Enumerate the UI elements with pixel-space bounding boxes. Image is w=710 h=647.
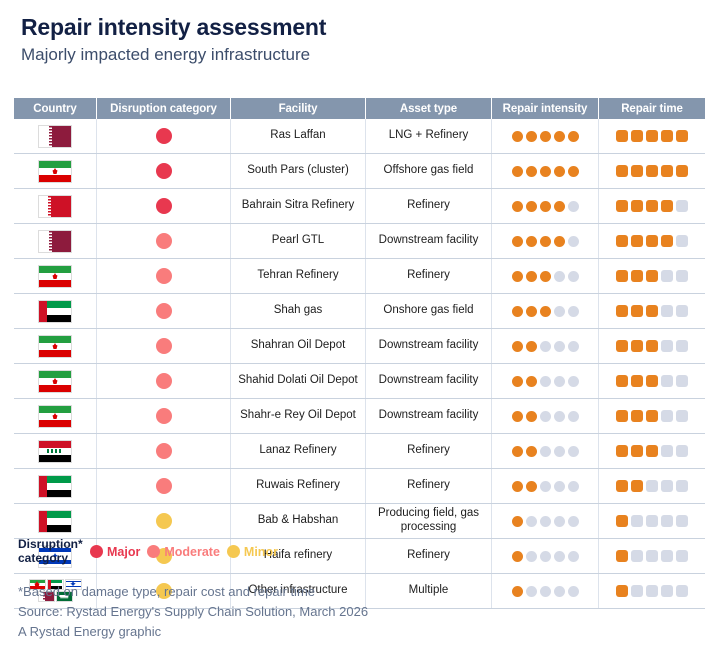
cell-repair-intensity [492, 224, 599, 259]
intensity-dot [568, 411, 579, 422]
footer-notes: *Based on damage type, repair cost and r… [18, 582, 368, 642]
disruption-dot-moderate [156, 303, 172, 319]
table-row: South Pars (cluster)Offshore gas field [14, 154, 705, 189]
intensity-dot [540, 271, 551, 282]
legend-item-moderate: Moderate [147, 545, 220, 559]
intensity-dot [540, 586, 551, 597]
cell-repair-intensity [492, 574, 599, 609]
flag-icon-iran [38, 370, 72, 393]
intensity-dot [554, 551, 565, 562]
cell-facility: Pearl GTL [231, 224, 366, 259]
intensity-dot [526, 131, 537, 142]
legend-items: MajorModerateMinor [90, 545, 285, 559]
flag-icon-iran [38, 335, 72, 358]
repair-intensity-marks [496, 411, 594, 422]
intensity-dot [554, 516, 565, 527]
flag-icon-bahrain [38, 195, 72, 218]
intensity-dot [568, 551, 579, 562]
cell-repair-time [599, 154, 706, 189]
intensity-dot [540, 481, 551, 492]
table-row: Shahran Oil DepotDownstream facility [14, 329, 705, 364]
repair-intensity-marks [496, 481, 594, 492]
intensity-dot [540, 236, 551, 247]
legend-label: Minor [244, 545, 278, 559]
intensity-dot [512, 516, 523, 527]
repair-time-marks [603, 585, 701, 597]
time-square [631, 480, 643, 492]
intensity-dot [540, 411, 551, 422]
table-row: Ras LaffanLNG + Refinery [14, 119, 705, 154]
repair-intensity-marks [496, 376, 594, 387]
time-square [646, 235, 658, 247]
cell-asset-type: Producing field, gas processing [366, 504, 492, 539]
cell-country [14, 329, 97, 364]
time-square [661, 165, 673, 177]
intensity-dot [568, 131, 579, 142]
intensity-dot [512, 446, 523, 457]
flag-icon-iran [38, 405, 72, 428]
repair-time-marks [603, 235, 701, 247]
time-square [661, 445, 673, 457]
time-square [631, 305, 643, 317]
time-square [631, 235, 643, 247]
table-row: Lanaz RefineryRefinery [14, 434, 705, 469]
time-square [661, 340, 673, 352]
page-title: Repair intensity assessment [21, 14, 710, 40]
repair-intensity-marks [496, 586, 594, 597]
column-header-repair-intensity: Repair intensity [492, 98, 599, 119]
cell-facility: Bahrain Sitra Refinery [231, 189, 366, 224]
cell-country [14, 469, 97, 504]
time-square [631, 515, 643, 527]
flag-icon-uae [38, 475, 72, 498]
intensity-dot [526, 271, 537, 282]
repair-intensity-marks [496, 341, 594, 352]
time-square [616, 585, 628, 597]
intensity-dot [554, 341, 565, 352]
repair-intensity-marks [496, 306, 594, 317]
intensity-dot [568, 481, 579, 492]
time-square [661, 480, 673, 492]
time-square [676, 270, 688, 282]
flag-icon-uae [38, 300, 72, 323]
disruption-dot-minor [156, 513, 172, 529]
cell-country [14, 364, 97, 399]
repair-intensity-marks [496, 551, 594, 562]
repair-intensity-marks [496, 166, 594, 177]
disruption-dot-moderate [156, 233, 172, 249]
repair-intensity-marks [496, 131, 594, 142]
intensity-dot [526, 236, 537, 247]
table-row: Pearl GTLDownstream facility [14, 224, 705, 259]
intensity-dot [512, 236, 523, 247]
repair-time-marks [603, 165, 701, 177]
time-square [676, 165, 688, 177]
time-square [631, 200, 643, 212]
intensity-dot [568, 306, 579, 317]
page-subtitle: Majorly impacted energy infrastructure [21, 45, 710, 65]
repair-intensity-marks [496, 236, 594, 247]
intensity-dot [568, 446, 579, 457]
repair-time-marks [603, 375, 701, 387]
cell-repair-time [599, 364, 706, 399]
time-square [676, 375, 688, 387]
time-square [631, 375, 643, 387]
repair-time-marks [603, 200, 701, 212]
time-square [646, 200, 658, 212]
intensity-dot [568, 236, 579, 247]
time-square [631, 165, 643, 177]
cell-disruption-category [97, 154, 231, 189]
time-square [661, 130, 673, 142]
cell-asset-type: Downstream facility [366, 329, 492, 364]
time-square [661, 305, 673, 317]
time-square [676, 235, 688, 247]
intensity-dot [554, 236, 565, 247]
cell-facility: Shah gas [231, 294, 366, 329]
time-square [646, 375, 658, 387]
cell-repair-intensity [492, 259, 599, 294]
cell-repair-intensity [492, 364, 599, 399]
time-square [661, 410, 673, 422]
time-square [676, 410, 688, 422]
cell-disruption-category [97, 434, 231, 469]
table-row: Shahr-e Rey Oil DepotDownstream facility [14, 399, 705, 434]
cell-disruption-category [97, 364, 231, 399]
time-square [616, 165, 628, 177]
time-square [661, 270, 673, 282]
time-square [616, 340, 628, 352]
intensity-dot [540, 376, 551, 387]
intensity-dot [512, 586, 523, 597]
cell-facility: Shahran Oil Depot [231, 329, 366, 364]
chart-header: Repair intensity assessment Majorly impa… [0, 0, 710, 66]
cell-repair-time [599, 539, 706, 574]
legend-title-line1: Disruption* [18, 537, 83, 551]
intensity-dot [526, 551, 537, 562]
time-square [676, 515, 688, 527]
cell-asset-type: Refinery [366, 539, 492, 574]
cell-disruption-category [97, 469, 231, 504]
intensity-dot [554, 306, 565, 317]
intensity-dot [526, 201, 537, 212]
intensity-dot [540, 201, 551, 212]
intensity-dot [512, 341, 523, 352]
legend-item-minor: Minor [227, 545, 278, 559]
intensity-dot [568, 166, 579, 177]
intensity-dot [568, 376, 579, 387]
time-square [616, 200, 628, 212]
time-square [646, 550, 658, 562]
cell-country [14, 189, 97, 224]
legend-swatch-major [90, 545, 103, 558]
cell-facility: Shahr-e Rey Oil Depot [231, 399, 366, 434]
legend-label: Moderate [164, 545, 220, 559]
table-header: Country Disruption category Facility Ass… [14, 98, 705, 119]
cell-repair-time [599, 399, 706, 434]
cell-asset-type: Onshore gas field [366, 294, 492, 329]
disruption-dot-major [156, 128, 172, 144]
time-square [646, 305, 658, 317]
table-row: Ruwais RefineryRefinery [14, 469, 705, 504]
cell-disruption-category [97, 329, 231, 364]
time-square [616, 515, 628, 527]
time-square [661, 585, 673, 597]
intensity-dot [540, 131, 551, 142]
intensity-dot [526, 411, 537, 422]
cell-repair-time [599, 224, 706, 259]
time-square [676, 130, 688, 142]
cell-country [14, 119, 97, 154]
cell-facility: Bab & Habshan [231, 504, 366, 539]
time-square [661, 515, 673, 527]
column-header-asset-type: Asset type [366, 98, 492, 119]
cell-asset-type: Offshore gas field [366, 154, 492, 189]
table-row: Shah gasOnshore gas field [14, 294, 705, 329]
cell-disruption-category [97, 294, 231, 329]
column-header-facility: Facility [231, 98, 366, 119]
repair-time-marks [603, 410, 701, 422]
time-square [631, 130, 643, 142]
table-body: Ras LaffanLNG + RefinerySouth Pars (clus… [14, 119, 705, 609]
cell-repair-intensity [492, 504, 599, 539]
cell-repair-time [599, 294, 706, 329]
cell-country [14, 154, 97, 189]
footnote-credit: A Rystad Energy graphic [18, 622, 368, 642]
repair-time-marks [603, 515, 701, 527]
cell-repair-intensity [492, 469, 599, 504]
cell-repair-intensity [492, 329, 599, 364]
cell-asset-type: LNG + Refinery [366, 119, 492, 154]
cell-disruption-category [97, 224, 231, 259]
intensity-dot [540, 446, 551, 457]
time-square [646, 515, 658, 527]
repair-time-marks [603, 305, 701, 317]
intensity-dot [526, 586, 537, 597]
time-square [646, 340, 658, 352]
cell-asset-type: Downstream facility [366, 224, 492, 259]
table-row: Bahrain Sitra RefineryRefinery [14, 189, 705, 224]
repair-time-marks [603, 130, 701, 142]
footnote-source: Source: Rystad Energy's Supply Chain Sol… [18, 602, 368, 622]
intensity-dot [540, 166, 551, 177]
cell-facility: South Pars (cluster) [231, 154, 366, 189]
cell-repair-intensity [492, 294, 599, 329]
legend-swatch-minor [227, 545, 240, 558]
repair-intensity-marks [496, 201, 594, 212]
intensity-dot [526, 516, 537, 527]
cell-repair-intensity [492, 154, 599, 189]
time-square [676, 305, 688, 317]
repair-time-marks [603, 480, 701, 492]
table-row: Bab & HabshanProducing field, gas proces… [14, 504, 705, 539]
legend-item-major: Major [90, 545, 140, 559]
repair-intensity-marks [496, 516, 594, 527]
time-square [646, 270, 658, 282]
intensity-dot [512, 201, 523, 212]
repair-time-marks [603, 270, 701, 282]
intensity-dot [526, 446, 537, 457]
flag-icon-iran [38, 265, 72, 288]
time-square [616, 375, 628, 387]
intensity-dot [540, 341, 551, 352]
intensity-dot [512, 411, 523, 422]
disruption-dot-moderate [156, 478, 172, 494]
time-square [616, 550, 628, 562]
disruption-dot-moderate [156, 338, 172, 354]
cell-repair-intensity [492, 539, 599, 574]
cell-repair-time [599, 189, 706, 224]
cell-facility: Tehran Refinery [231, 259, 366, 294]
time-square [616, 270, 628, 282]
cell-repair-time [599, 469, 706, 504]
intensity-dot [568, 341, 579, 352]
cell-asset-type: Downstream facility [366, 399, 492, 434]
cell-disruption-category [97, 189, 231, 224]
assessment-table-container: Country Disruption category Facility Ass… [14, 98, 700, 609]
table-row: Shahid Dolati Oil DepotDownstream facili… [14, 364, 705, 399]
intensity-dot [526, 376, 537, 387]
intensity-dot [568, 586, 579, 597]
intensity-dot [512, 271, 523, 282]
cell-country [14, 504, 97, 539]
time-square [661, 550, 673, 562]
disruption-dot-major [156, 198, 172, 214]
disruption-dot-major [156, 163, 172, 179]
time-square [616, 130, 628, 142]
cell-asset-type: Refinery [366, 189, 492, 224]
table-row: Tehran RefineryRefinery [14, 259, 705, 294]
cell-repair-intensity [492, 434, 599, 469]
intensity-dot [540, 516, 551, 527]
intensity-dot [526, 306, 537, 317]
time-square [646, 130, 658, 142]
cell-repair-time [599, 119, 706, 154]
repair-time-marks [603, 550, 701, 562]
flag-icon-iraq [38, 440, 72, 463]
flag-icon-qatar [38, 230, 72, 253]
column-header-repair-time: Repair time [599, 98, 706, 119]
cell-asset-type: Refinery [366, 469, 492, 504]
time-square [661, 235, 673, 247]
footnote-methodology: *Based on damage type, repair cost and r… [18, 582, 368, 602]
cell-country [14, 434, 97, 469]
intensity-dot [554, 376, 565, 387]
cell-asset-type: Refinery [366, 259, 492, 294]
time-square [676, 585, 688, 597]
cell-country [14, 259, 97, 294]
cell-repair-time [599, 434, 706, 469]
time-square [646, 445, 658, 457]
legend-title-line2: category [18, 551, 68, 565]
intensity-dot [526, 341, 537, 352]
time-square [616, 480, 628, 492]
intensity-dot [554, 481, 565, 492]
cell-disruption-category [97, 119, 231, 154]
flag-icon-iran [38, 160, 72, 183]
time-square [646, 480, 658, 492]
flag-icon-uae [38, 510, 72, 533]
time-square [646, 165, 658, 177]
cell-asset-type: Refinery [366, 434, 492, 469]
cell-country [14, 224, 97, 259]
cell-repair-time [599, 504, 706, 539]
cell-disruption-category [97, 259, 231, 294]
time-square [646, 585, 658, 597]
flag-icon-qatar [38, 125, 72, 148]
intensity-dot [554, 201, 565, 212]
intensity-dot [512, 306, 523, 317]
intensity-dot [554, 166, 565, 177]
cell-disruption-category [97, 399, 231, 434]
cell-facility: Ras Laffan [231, 119, 366, 154]
intensity-dot [540, 306, 551, 317]
intensity-dot [554, 586, 565, 597]
cell-facility: Lanaz Refinery [231, 434, 366, 469]
cell-facility: Shahid Dolati Oil Depot [231, 364, 366, 399]
disruption-dot-moderate [156, 443, 172, 459]
cell-repair-time [599, 259, 706, 294]
time-square [661, 200, 673, 212]
time-square [631, 550, 643, 562]
column-header-disruption-category: Disruption category [97, 98, 231, 119]
intensity-dot [554, 271, 565, 282]
intensity-dot [526, 166, 537, 177]
intensity-dot [512, 131, 523, 142]
cell-repair-intensity [492, 399, 599, 434]
time-square [631, 585, 643, 597]
intensity-dot [568, 271, 579, 282]
time-square [616, 410, 628, 422]
cell-repair-intensity [492, 119, 599, 154]
intensity-dot [554, 131, 565, 142]
time-square [616, 445, 628, 457]
repair-time-marks [603, 445, 701, 457]
time-square [631, 270, 643, 282]
repair-intensity-marks [496, 446, 594, 457]
table-header-row: Country Disruption category Facility Ass… [14, 98, 705, 119]
time-square [676, 200, 688, 212]
intensity-dot [568, 516, 579, 527]
disruption-dot-moderate [156, 408, 172, 424]
time-square [661, 375, 673, 387]
legend: Disruption* category MajorModerateMinor [18, 538, 285, 566]
time-square [631, 445, 643, 457]
time-square [631, 340, 643, 352]
legend-swatch-moderate [147, 545, 160, 558]
intensity-dot [512, 551, 523, 562]
assessment-table: Country Disruption category Facility Ass… [14, 98, 705, 609]
intensity-dot [554, 411, 565, 422]
time-square [631, 410, 643, 422]
time-square [616, 305, 628, 317]
time-square [616, 235, 628, 247]
cell-repair-time [599, 329, 706, 364]
legend-label: Major [107, 545, 140, 559]
disruption-dot-moderate [156, 373, 172, 389]
legend-title: Disruption* category [18, 538, 84, 566]
time-square [646, 410, 658, 422]
intensity-dot [554, 446, 565, 457]
cell-country [14, 399, 97, 434]
intensity-dot [568, 201, 579, 212]
cell-asset-type: Multiple [366, 574, 492, 609]
intensity-dot [512, 166, 523, 177]
repair-intensity-marks [496, 271, 594, 282]
cell-country [14, 294, 97, 329]
cell-repair-intensity [492, 189, 599, 224]
time-square [676, 550, 688, 562]
